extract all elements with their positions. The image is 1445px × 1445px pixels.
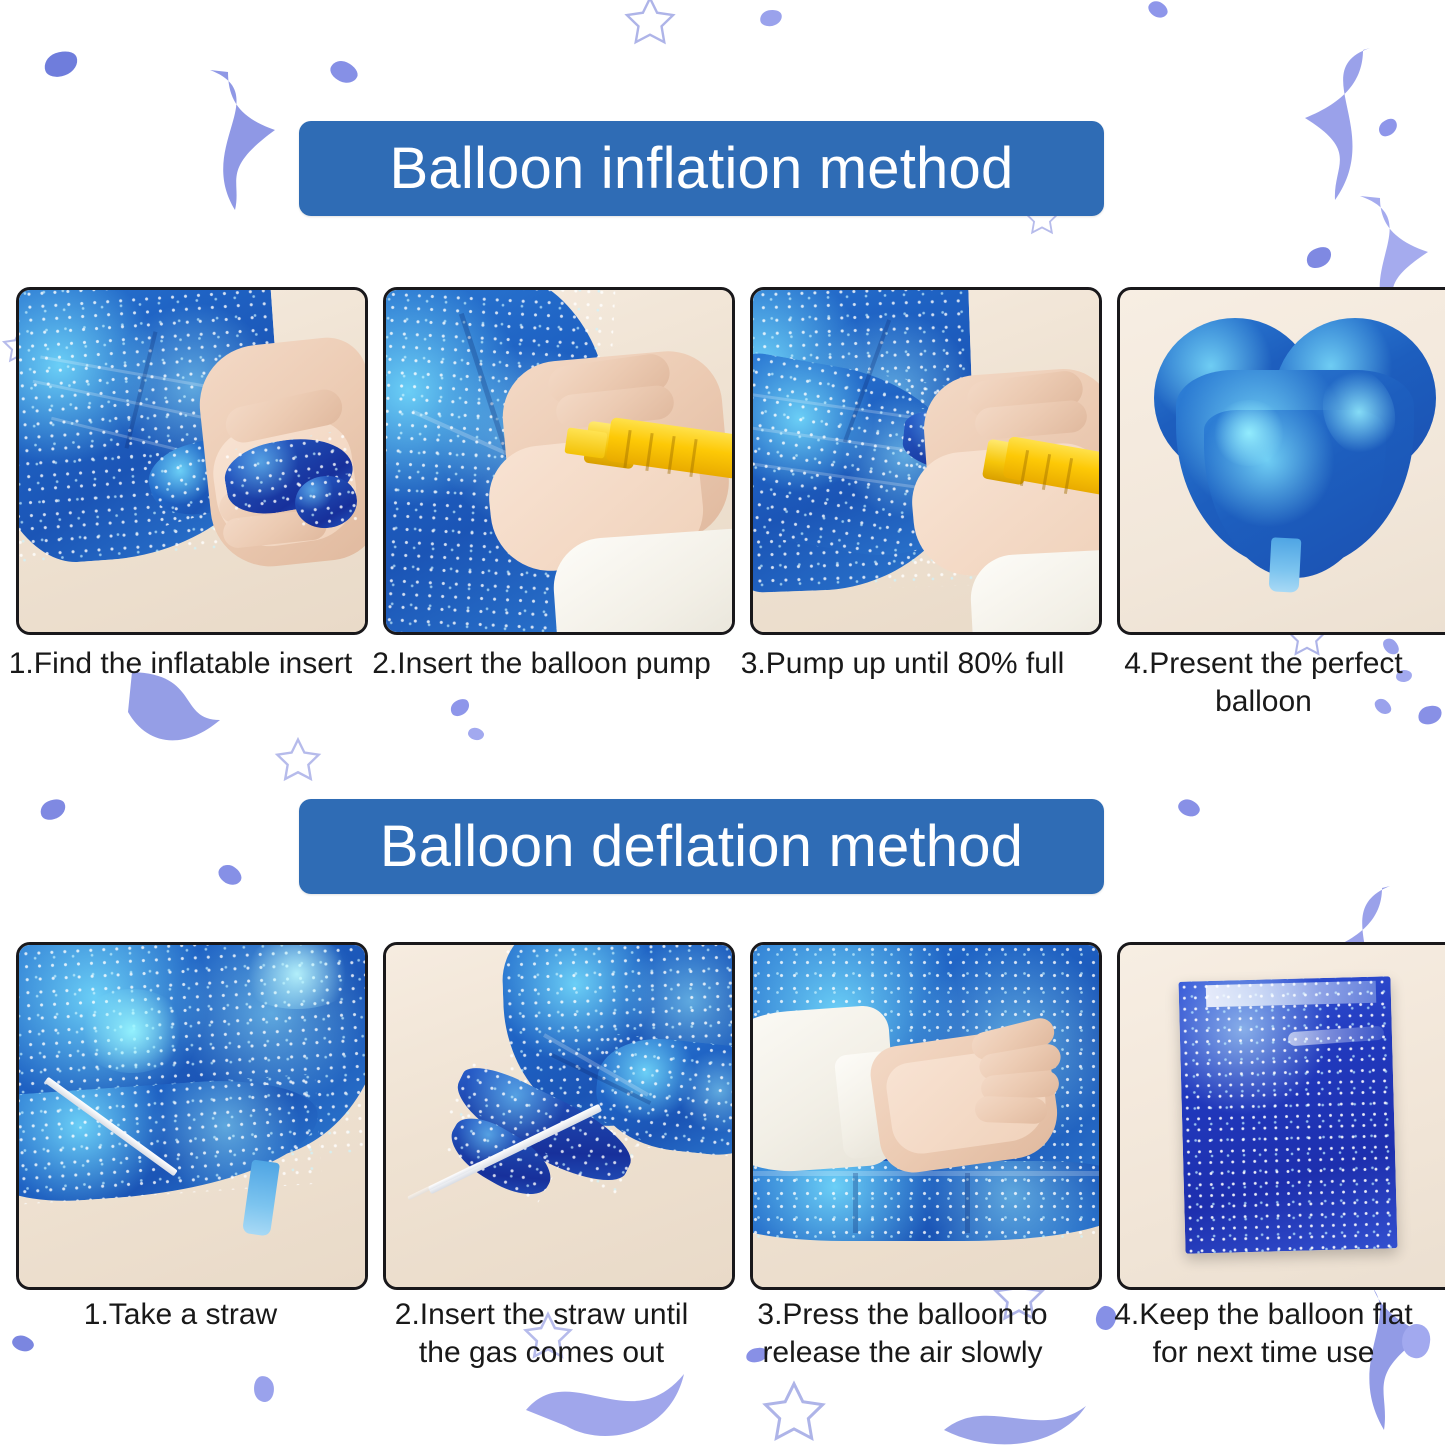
star-outline-icon bbox=[272, 734, 324, 786]
step-caption-deflation-1: 1.Take a straw bbox=[0, 1296, 361, 1372]
section-banner-deflation: Balloon deflation method bbox=[299, 799, 1104, 894]
step-photo-deflation-4 bbox=[1117, 942, 1445, 1290]
ribbon-confetti bbox=[180, 60, 300, 220]
step-caption-deflation-3: 3.Press the balloon to release the air s… bbox=[722, 1296, 1083, 1372]
step-photo-deflation-3 bbox=[750, 942, 1102, 1290]
confetti-chip bbox=[467, 726, 486, 742]
caption-row-deflation: 1.Take a straw 2.Insert the straw until … bbox=[0, 1296, 1445, 1372]
banner-title-deflation: Balloon deflation method bbox=[380, 818, 1023, 876]
confetti-chip bbox=[1376, 115, 1401, 139]
step-caption-inflation-4: 4.Present the perfect balloon bbox=[1083, 645, 1444, 721]
star-outline-icon bbox=[756, 1376, 832, 1445]
confetti-chip bbox=[215, 861, 245, 889]
banner-title-inflation: Balloon inflation method bbox=[390, 140, 1014, 198]
confetti-chip bbox=[1176, 796, 1202, 819]
step-photo-inflation-1 bbox=[16, 287, 368, 635]
infographic-page: Balloon inflation method bbox=[0, 0, 1445, 1445]
caption-row-inflation: 1.Find the inflatable insert 2.Insert th… bbox=[0, 645, 1445, 721]
photo-row-deflation bbox=[16, 942, 1430, 1284]
step-caption-inflation-2: 2.Insert the balloon pump bbox=[361, 645, 722, 721]
step-photo-deflation-1 bbox=[16, 942, 368, 1290]
step-photo-inflation-4 bbox=[1117, 287, 1445, 635]
section-banner-inflation: Balloon inflation method bbox=[299, 121, 1104, 216]
step-caption-deflation-2: 2.Insert the straw until the gas comes o… bbox=[361, 1296, 722, 1372]
step-photo-inflation-3 bbox=[750, 287, 1102, 635]
confetti-chip bbox=[41, 47, 81, 81]
step-caption-deflation-4: 4.Keep the balloon flat for next time us… bbox=[1083, 1296, 1444, 1372]
step-photo-inflation-2 bbox=[383, 287, 735, 635]
confetti-chip bbox=[252, 1375, 275, 1404]
ribbon-confetti bbox=[1275, 40, 1405, 225]
confetti-chip bbox=[327, 57, 361, 87]
confetti-chip bbox=[1303, 243, 1335, 272]
step-photo-deflation-2 bbox=[383, 942, 735, 1290]
star-outline-icon bbox=[620, 0, 680, 50]
confetti-chip bbox=[1146, 0, 1171, 21]
ribbon-confetti bbox=[940, 1390, 1090, 1445]
step-caption-inflation-1: 1.Find the inflatable insert bbox=[0, 645, 361, 721]
photo-row-inflation bbox=[16, 287, 1430, 629]
step-caption-inflation-3: 3.Pump up until 80% full bbox=[722, 645, 1083, 721]
confetti-chip bbox=[759, 8, 784, 28]
confetti-chip bbox=[37, 796, 68, 824]
